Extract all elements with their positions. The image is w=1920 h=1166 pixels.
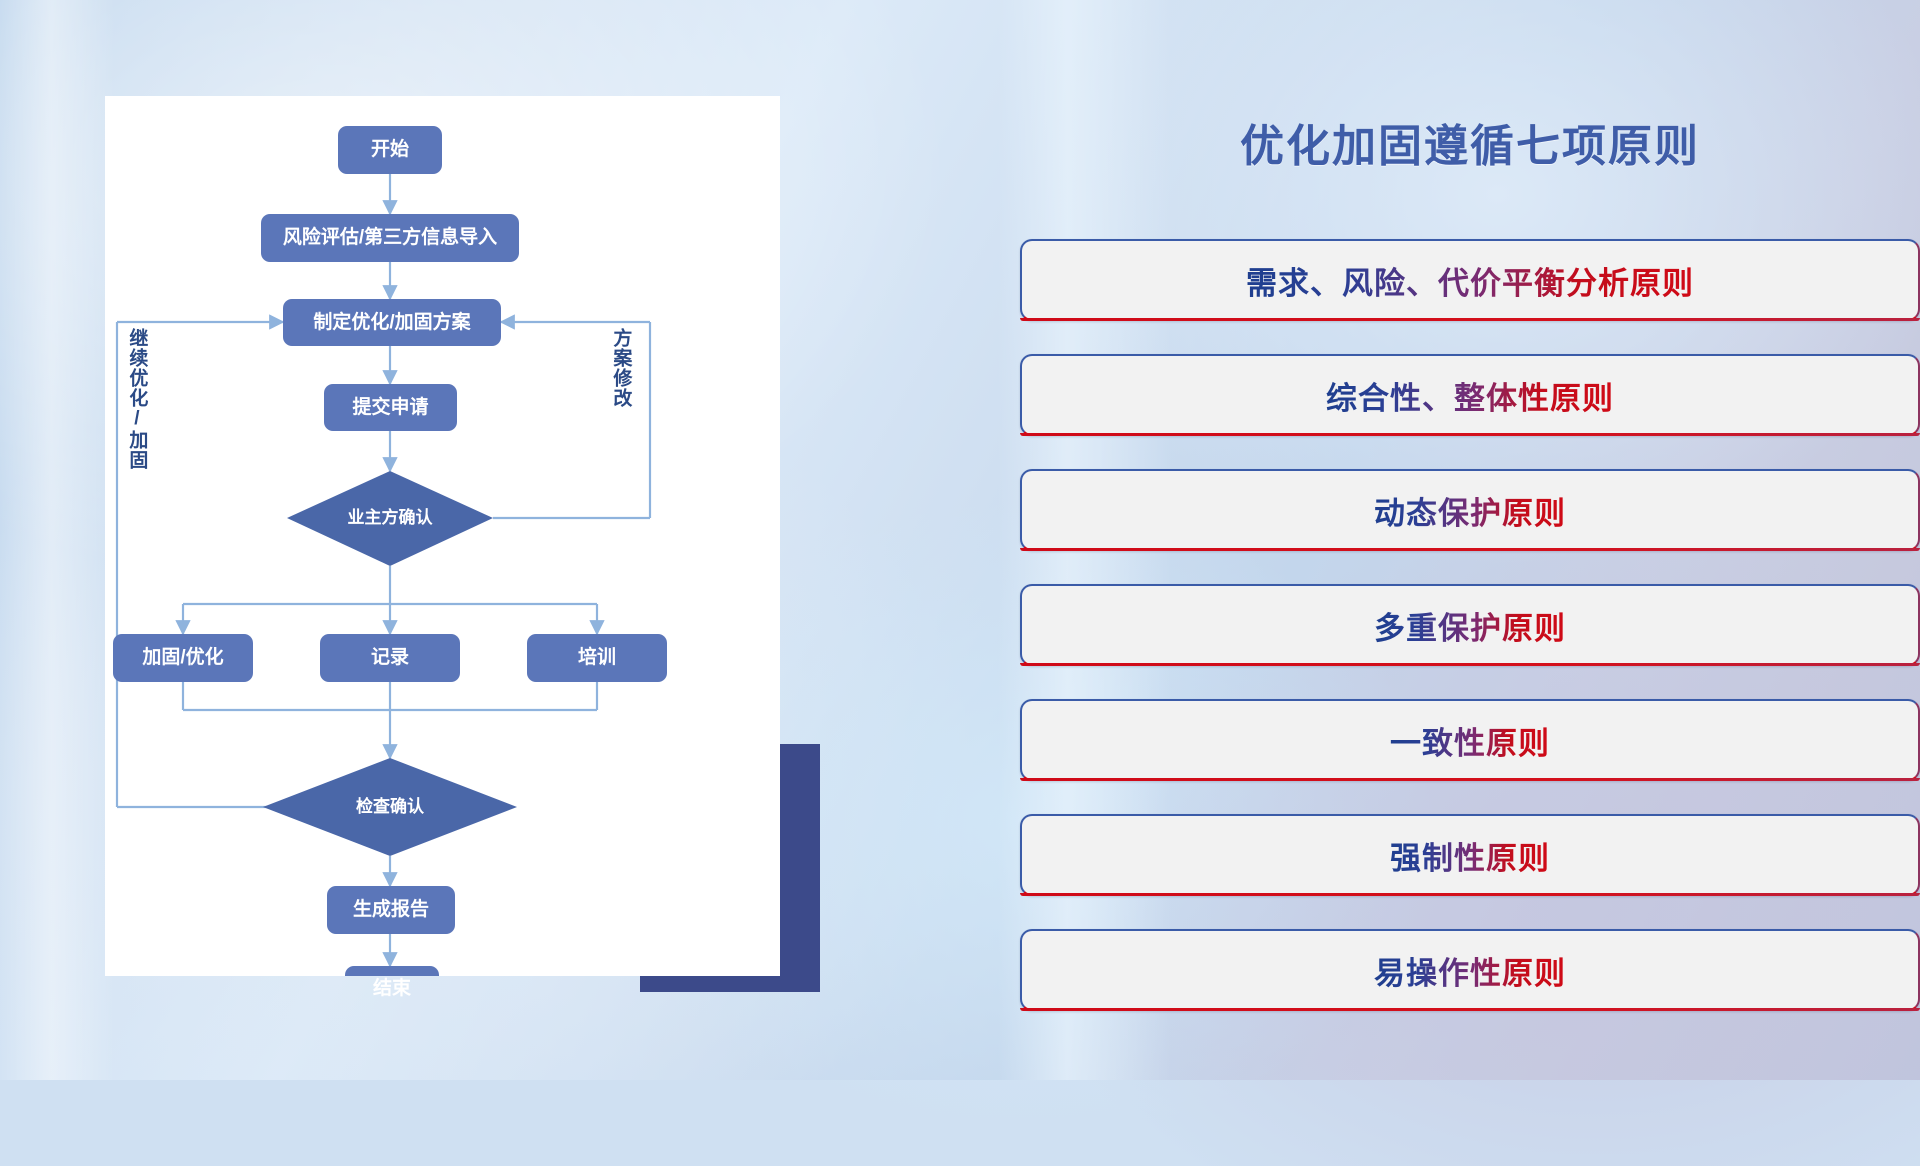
principle-card-6[interactable]: 强制性原则 <box>1020 814 1920 896</box>
principle-label: 动态保护原则 <box>1374 488 1566 533</box>
flow-node-plan-shape <box>283 299 501 346</box>
flow-node-record-shape <box>320 634 460 682</box>
principle-label: 多重保护原则 <box>1374 603 1566 648</box>
principle-label: 需求、风险、代价平衡分析原则 <box>1246 258 1694 303</box>
principle-card-7[interactable]: 易操作性原则 <box>1020 929 1920 1011</box>
principle-card-3[interactable]: 动态保护原则 <box>1020 469 1920 551</box>
principle-label: 综合性、整体性原则 <box>1326 373 1614 418</box>
page-title: 优化加固遵循七项原则 <box>1020 110 1920 174</box>
flowchart-card: 开始 风险评估/第三方信息导入 制定优化/加固方案 提交申请 业主方确认 加固/… <box>105 96 780 976</box>
flowchart-connectors <box>105 96 780 976</box>
principle-label: 强制性原则 <box>1390 833 1550 878</box>
flow-node-submit-shape <box>324 384 457 431</box>
flow-node-end-shape <box>345 966 439 976</box>
principle-card-5[interactable]: 一致性原则 <box>1020 699 1920 781</box>
flow-node-reinforce-shape <box>113 634 253 682</box>
principle-card-2[interactable]: 综合性、整体性原则 <box>1020 354 1920 436</box>
flow-node-risk-shape <box>261 214 519 262</box>
flow-node-owner-shape <box>287 471 493 566</box>
flow-loop-label-left: 继续优化/加固 <box>127 328 146 508</box>
flow-node-report-shape <box>327 886 455 934</box>
principle-card-1[interactable]: 需求、风险、代价平衡分析原则 <box>1020 239 1920 321</box>
flow-node-start-shape <box>338 126 442 174</box>
principle-label: 一致性原则 <box>1390 718 1550 763</box>
principle-card-list: 需求、风险、代价平衡分析原则 综合性、整体性原则 动态保护原则 多重保护原则 一… <box>1020 239 1920 1044</box>
flow-loop-label-right: 方案修改 <box>611 328 630 458</box>
flow-node-train-shape <box>527 634 667 682</box>
principle-card-4[interactable]: 多重保护原则 <box>1020 584 1920 666</box>
flow-node-check-shape <box>263 758 517 856</box>
principle-label: 易操作性原则 <box>1374 948 1566 993</box>
background-light-streak <box>0 0 115 1080</box>
principles-panel: 优化加固遵循七项原则 需求、风险、代价平衡分析原则 综合性、整体性原则 动态保护… <box>1020 0 1920 1080</box>
